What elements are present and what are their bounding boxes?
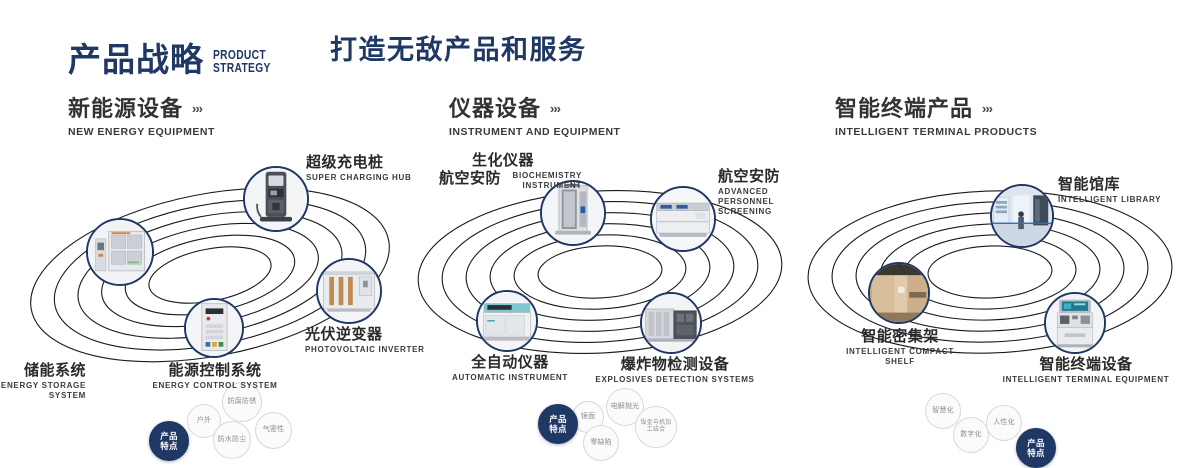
- caption-cn: 能源控制系统: [90, 362, 340, 380]
- hub-badge-line2: 特点: [1027, 448, 1044, 458]
- page-title-en-line2: STRATEGY: [213, 62, 271, 75]
- screening-machine-image: [652, 188, 714, 250]
- caption-cn: 生化仪器: [472, 152, 582, 170]
- caption-intelligent-library: 智能馆库 INTELLIGENT LIBRARY: [1058, 176, 1161, 205]
- node-photovoltaic-inverter[interactable]: [316, 258, 382, 324]
- caption-en: SUPER CHARGING HUB: [306, 173, 412, 183]
- node-energy-control-system[interactable]: [184, 298, 244, 358]
- caption-cn: 爆炸物检测设备: [575, 356, 775, 374]
- caption-en: ENERGY STORAGE SYSTEM: [0, 381, 86, 401]
- caption-biochemistry-instrument: 生化仪器 BIOCHEMISTRY INSTRUMENT: [472, 152, 582, 191]
- control-cabinet-image: [186, 300, 242, 356]
- chevron-right-triple-icon: ›››: [982, 96, 992, 122]
- page-subtitle: 打造无敌产品和服务: [330, 32, 587, 68]
- biochemistry-scanner-image: [542, 182, 604, 244]
- caption-en: INTELLIGENT TERMINAL EQUIPMENT: [976, 375, 1196, 385]
- feature-pill: 人性化: [986, 405, 1022, 441]
- feature-pill-text: 防腐防锈: [228, 398, 257, 407]
- section-heading-instrument: 仪器设备 ››› INSTRUMENT AND EQUIPMENT: [449, 96, 620, 138]
- node-intelligent-compact-shelf[interactable]: [868, 262, 930, 324]
- caption-intelligent-compact-shelf: 智能密集架 INTELLIGENT COMPACT SHELF: [810, 328, 990, 367]
- product-strategy-infographic: 产品战略 PRODUCT STRATEGY 打造无敌产品和服务 新能源设备 ››…: [0, 0, 1200, 422]
- feature-pill: 防水防尘: [213, 421, 251, 459]
- cluster-new-energy: 户外 防腐防锈 气密性 防水防尘 产品 特点: [0, 150, 420, 400]
- chevron-right-triple-icon: ›››: [550, 96, 560, 122]
- chevron-right-triple-icon: ›››: [192, 96, 202, 122]
- section-heading-intelligent-terminal: 智能终端产品 ››› INTELLIGENT TERMINAL PRODUCTS: [835, 96, 1037, 138]
- hub-badge-line2: 特点: [160, 441, 177, 451]
- feature-pill: 数字化: [953, 417, 989, 453]
- node-automatic-instrument[interactable]: [476, 290, 538, 352]
- caption-cn: 智能密集架: [810, 328, 990, 346]
- caption-intelligent-terminal-equipment: 智能终端设备 INTELLIGENT TERMINAL EQUIPMENT: [976, 356, 1196, 385]
- hub-badge-product-features[interactable]: 产品 特点: [538, 404, 578, 444]
- caption-en: INTELLIGENT COMPACT SHELF: [838, 347, 963, 367]
- section-title-en: INSTRUMENT AND EQUIPMENT: [449, 126, 620, 138]
- inverter-cabinet-image: [318, 260, 380, 322]
- node-intelligent-library[interactable]: [990, 184, 1054, 248]
- cluster-instrument: 镜面 电解抛光 零缺陷 钣金与机加工结合 产品 特点 航空安防: [400, 150, 820, 400]
- page-title-cn: 产品战略: [68, 42, 204, 78]
- cluster-intelligent-terminal: 智慧化 数字化 人性化 产品 特点: [790, 150, 1200, 400]
- caption-energy-control-system: 能源控制系统 ENERGY CONTROL SYSTEM: [90, 362, 340, 391]
- caption-en: BIOCHEMISTRY INSTRUMENT: [472, 171, 582, 191]
- node-energy-storage-system[interactable]: [86, 218, 154, 286]
- caption-en: INTELLIGENT LIBRARY: [1058, 195, 1161, 205]
- node-advanced-personnel-screening[interactable]: [650, 186, 716, 252]
- section-heading-new-energy: 新能源设备 ››› NEW ENERGY EQUIPMENT: [68, 96, 215, 138]
- hub-badge-line1: 产品: [160, 431, 177, 441]
- caption-cn: 储能系统: [0, 362, 86, 380]
- feature-pill: 零缺陷: [583, 425, 619, 461]
- caption-explosives-detection-systems: 爆炸物检测设备 EXPLOSIVES DETECTION SYSTEMS: [575, 356, 775, 385]
- caption-energy-storage-system: 储能系统 ENERGY STORAGE SYSTEM: [0, 362, 86, 401]
- section-title-cn: 仪器设备: [449, 96, 541, 122]
- library-interior-image: [992, 186, 1052, 246]
- node-super-charging-hub[interactable]: [243, 166, 309, 232]
- section-title-cn: 新能源设备: [68, 96, 183, 122]
- caption-super-charging-hub: 超级充电桩 SUPER CHARGING HUB: [306, 154, 412, 183]
- caption-en: ENERGY CONTROL SYSTEM: [90, 381, 340, 391]
- self-service-kiosk-image: [1046, 294, 1104, 352]
- energy-storage-cabinet-image: [88, 220, 152, 284]
- caption-cn: 超级充电桩: [306, 154, 412, 172]
- hub-badge-line1: 产品: [549, 414, 566, 424]
- hub-badge-line2: 特点: [549, 424, 566, 434]
- node-explosives-detection-systems[interactable]: [640, 292, 702, 354]
- charging-pile-image: [245, 168, 307, 230]
- hub-badge-product-features[interactable]: 产品 特点: [1016, 428, 1056, 468]
- feature-pill: 钣金与机加工结合: [635, 406, 677, 448]
- section-title-cn: 智能终端产品: [835, 96, 973, 122]
- section-title-en: INTELLIGENT TERMINAL PRODUCTS: [835, 126, 1037, 138]
- caption-en: EXPLOSIVES DETECTION SYSTEMS: [575, 375, 775, 385]
- node-intelligent-terminal-equipment[interactable]: [1044, 292, 1106, 354]
- caption-cn: 智能终端设备: [976, 356, 1196, 374]
- automatic-analyzer-image: [478, 292, 536, 350]
- page-title-block: 产品战略 PRODUCT STRATEGY: [68, 26, 283, 78]
- hub-badge-line1: 产品: [1027, 438, 1044, 448]
- caption-cn: 智能馆库: [1058, 176, 1161, 194]
- explosives-detector-image: [642, 294, 700, 352]
- page-title-en: PRODUCT STRATEGY: [213, 49, 271, 75]
- section-title-en: NEW ENERGY EQUIPMENT: [68, 126, 215, 138]
- compact-shelving-image: [870, 264, 928, 322]
- feature-pill: 气密性: [255, 412, 292, 449]
- hub-badge-product-features[interactable]: 产品 特点: [149, 421, 189, 461]
